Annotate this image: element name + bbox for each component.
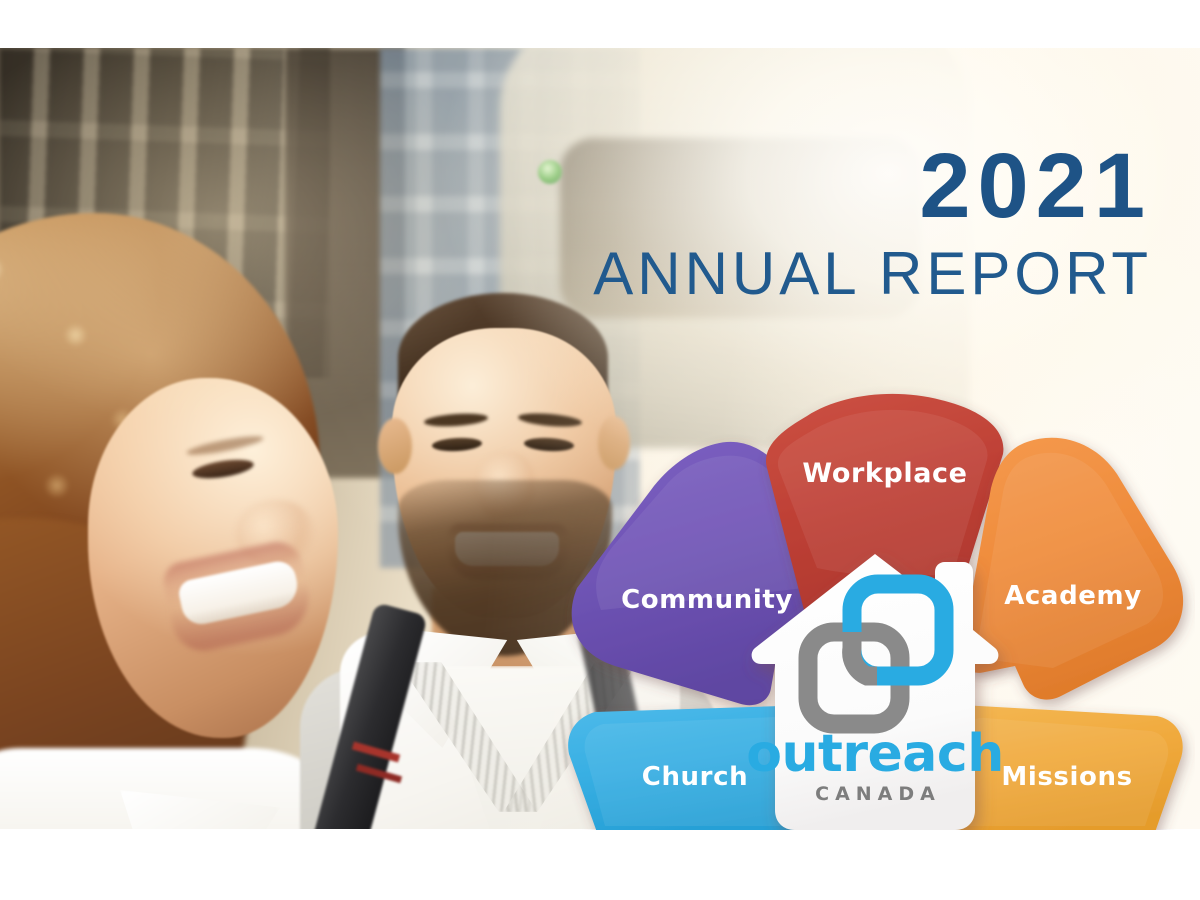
man-ear-left	[378, 418, 412, 474]
bus-indicator-light-icon	[538, 160, 562, 184]
report-subtitle: ANNUAL REPORT	[593, 244, 1152, 304]
petal-label-missions: Missions	[1001, 762, 1132, 792]
annual-report-cover: 2021 ANNUAL REPORT	[0, 0, 1200, 900]
outreach-petal-diagram: Workplace Academy Missions Church Commun…	[555, 386, 1195, 836]
petal-label-workplace: Workplace	[802, 458, 967, 489]
cover-headline: 2021 ANNUAL REPORT	[593, 140, 1152, 304]
report-year: 2021	[593, 140, 1152, 232]
logo-wordmark: outreach	[746, 724, 1003, 784]
petal-label-academy: Academy	[1004, 581, 1142, 611]
logo-tagline: CANADA	[815, 783, 941, 805]
petal-label-church: Church	[642, 762, 748, 792]
petal-label-community: Community	[621, 585, 793, 615]
